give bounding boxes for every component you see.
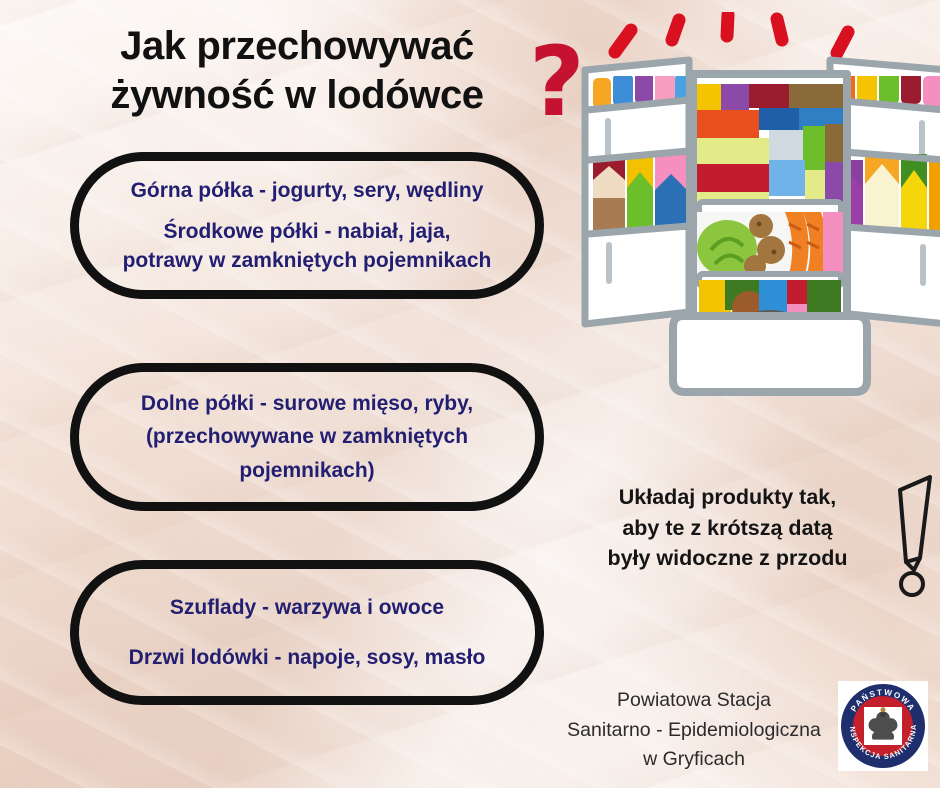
info-box-2-line-2: (przechowywane w zamkniętych: [146, 423, 468, 450]
info-box-1-line-3: potrawy w zamkniętych pojemnikach: [123, 247, 492, 274]
info-box-2-line-3: pojemnikach): [239, 457, 374, 484]
footer-organization-name: Powiatowa Stacja Sanitarno - Epidemiolog…: [560, 686, 828, 775]
footer-line-1: Powiatowa Stacja: [560, 686, 828, 716]
info-box-1-line-2: Środkowe półki - nabiał, jaja,: [163, 218, 450, 245]
page-title: Jak przechowywać żywność w lodówce: [62, 22, 532, 120]
tip-line-2: aby te z krótszą datą: [575, 513, 880, 544]
tip-line-1: Układaj produkty tak,: [575, 482, 880, 513]
refrigerator-illustration: [575, 12, 940, 417]
tip-line-3: były widoczne z przodu: [575, 543, 880, 574]
shine-marks: [615, 15, 848, 53]
footer-line-3: w Gryficach: [560, 745, 828, 775]
info-box-3-line-1: Szuflady - warzywa i owoce: [170, 594, 444, 621]
info-box-3-line-2: Drzwi lodówki - napoje, sosy, masło: [129, 644, 486, 671]
exclamation-mark-icon: [884, 474, 940, 600]
poster-canvas: Jak przechowywać żywność w lodówce ?: [0, 0, 940, 788]
footer-line-2: Sanitarno - Epidemiologiczna: [560, 716, 828, 746]
info-box-upper-shelves: Górna półka - jogurty, sery, wędliny Śro…: [70, 152, 544, 299]
page-title-line-1: Jak przechowywać: [62, 22, 532, 71]
sanitary-inspection-logo: PAŃSTWOWA INSPEKCJA SANITARNA: [838, 681, 928, 771]
info-box-lower-shelves: Dolne półki - surowe mięso, ryby, (przec…: [70, 363, 544, 511]
info-box-1-line-1: Górna półka - jogurty, sery, wędliny: [131, 177, 484, 204]
info-box-2-line-1: Dolne półki - surowe mięso, ryby,: [141, 390, 473, 417]
tip-text: Układaj produkty tak, aby te z krótszą d…: [575, 482, 880, 574]
fridge-bottom-drawer: [673, 316, 867, 392]
info-box-drawers-and-door: Szuflady - warzywa i owoce Drzwi lodówki…: [70, 560, 544, 705]
fridge-cabinet: [693, 74, 847, 342]
fridge-left-door: [585, 60, 689, 324]
page-title-line-2: żywność w lodówce: [62, 71, 532, 120]
